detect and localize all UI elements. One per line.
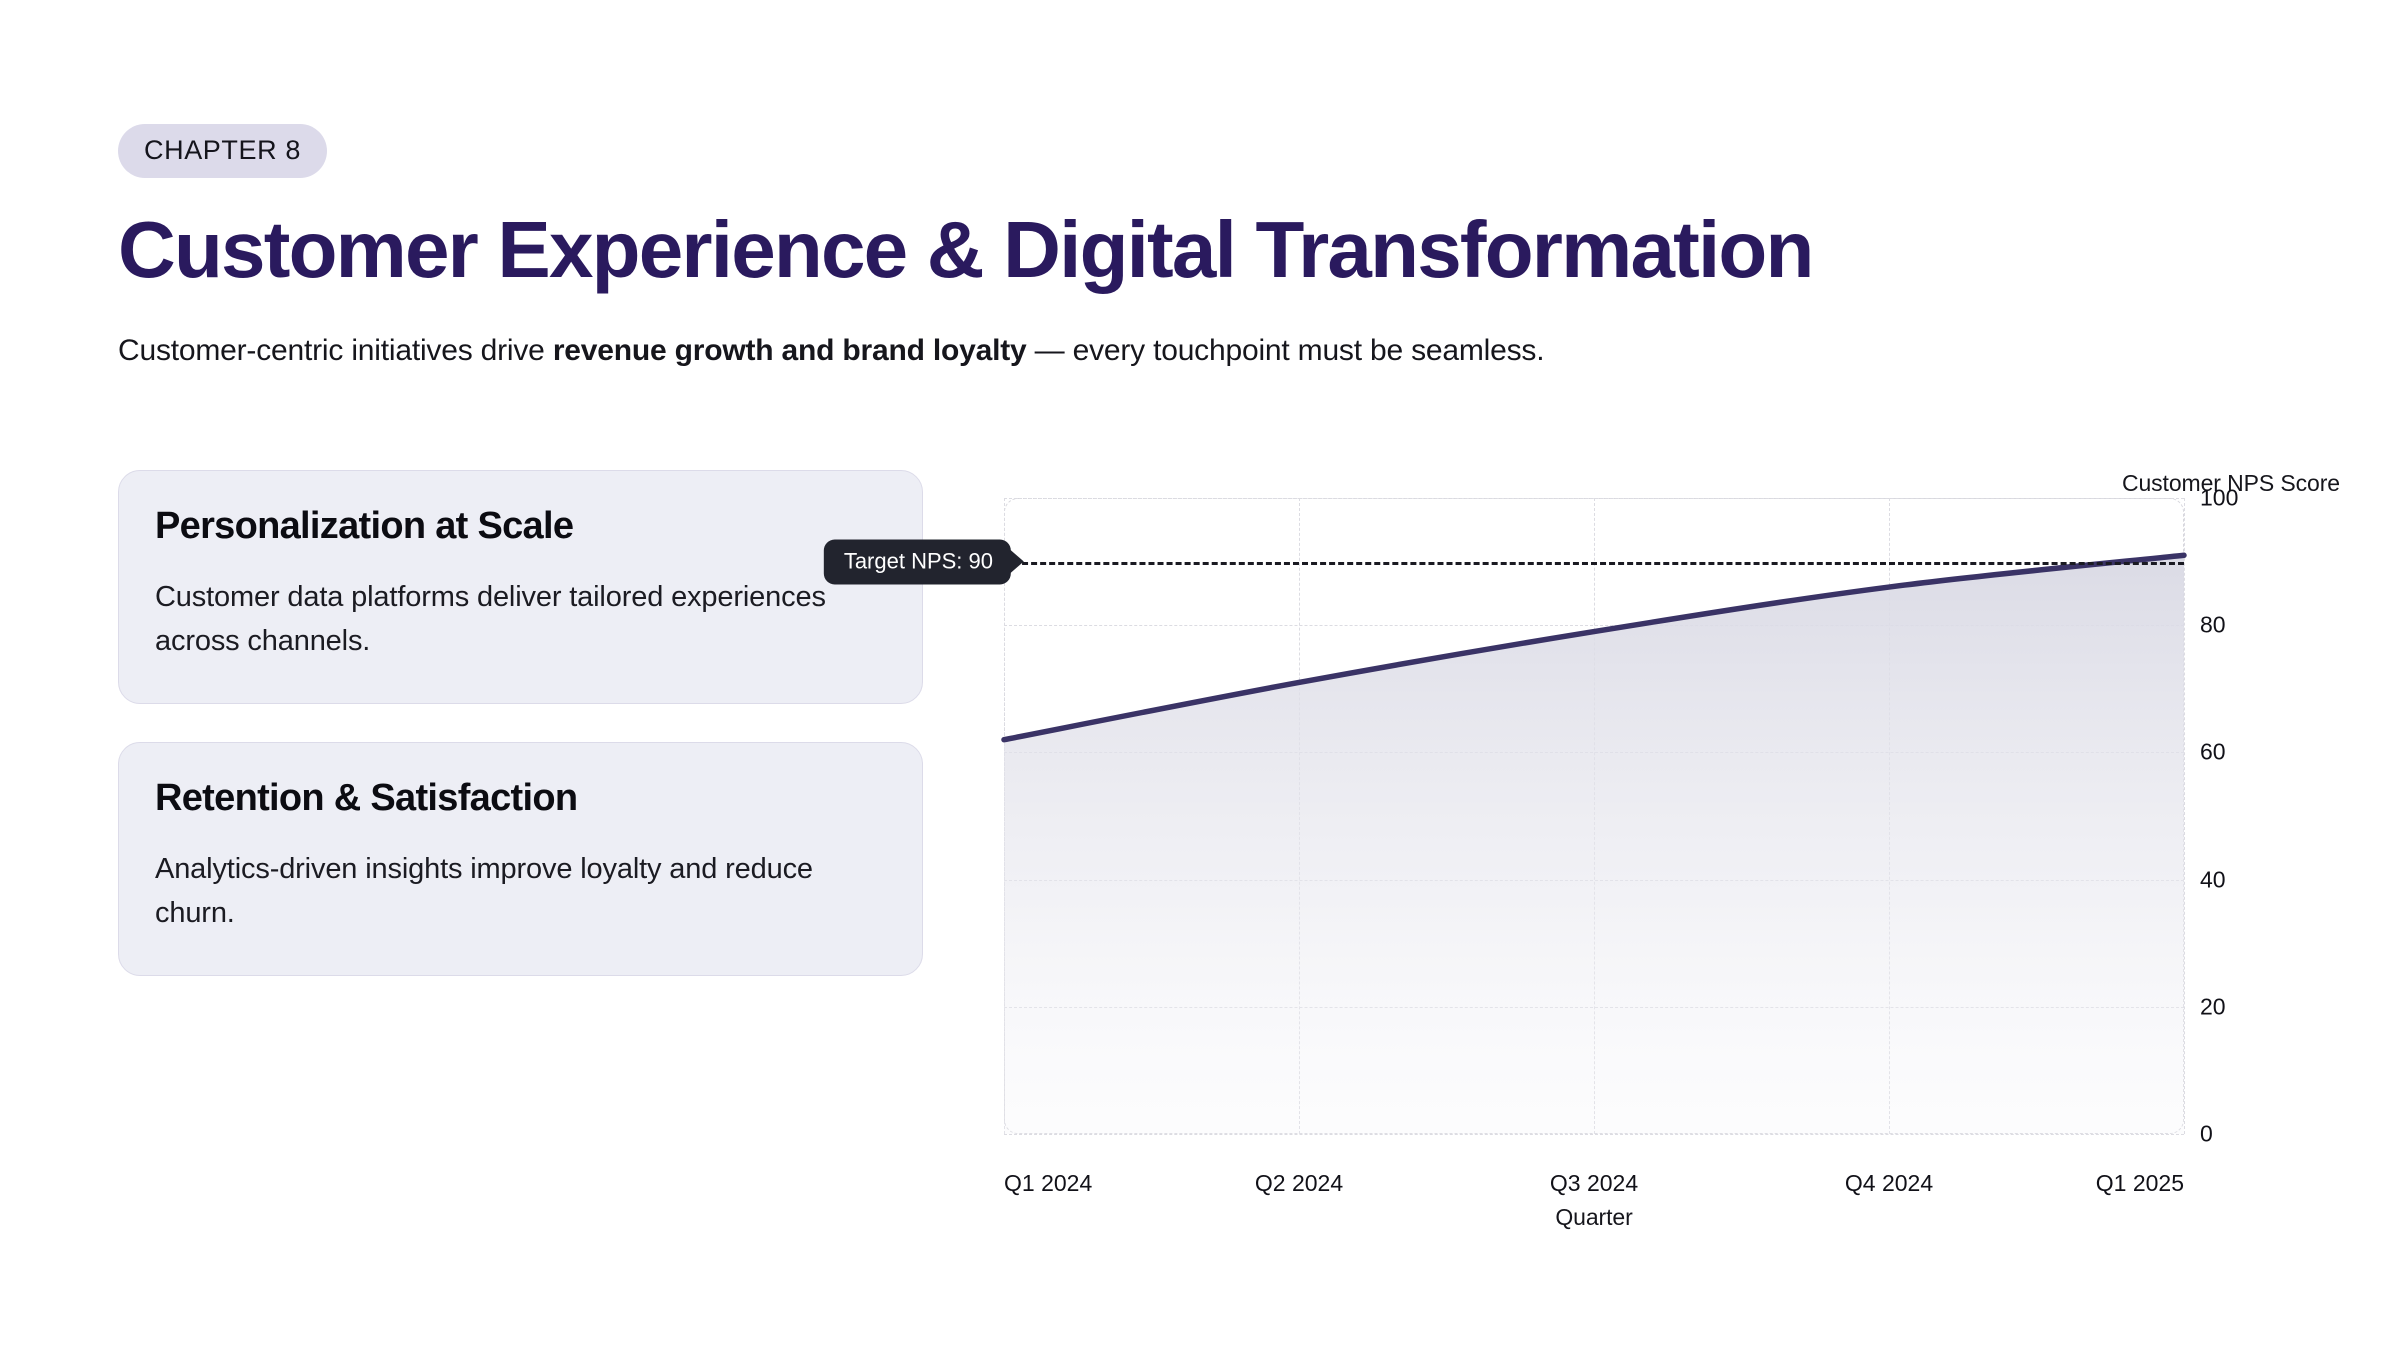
area-fill: [1004, 555, 2184, 1134]
x-axis-tick-label: Q3 2024: [1550, 1170, 1638, 1197]
x-axis-tick-label: Q4 2024: [1845, 1170, 1933, 1197]
y-axis-tick-label: 0: [2200, 1121, 2213, 1148]
feature-card: Retention & Satisfaction Analytics-drive…: [118, 742, 923, 976]
target-line: [1004, 562, 2184, 565]
y-axis-tick-label: 40: [2200, 866, 2226, 893]
y-axis-tick-label: 80: [2200, 612, 2226, 639]
y-axis-tick-label: 60: [2200, 739, 2226, 766]
chart-plot-area: Target NPS: 90 020406080100 Q1 2024Q2 20…: [1004, 498, 2184, 1134]
chapter-badge: CHAPTER 8: [118, 124, 327, 178]
slide: CHAPTER 8 Customer Experience & Digital …: [0, 0, 2400, 1350]
feature-card-title: Retention & Satisfaction: [155, 777, 886, 821]
series-svg: [1004, 498, 2184, 1134]
feature-card-body: Customer data platforms deliver tailored…: [155, 575, 886, 663]
feature-card-title: Personalization at Scale: [155, 505, 886, 549]
target-annotation-label: Target NPS: 90: [824, 539, 1011, 584]
header: CHAPTER 8 Customer Experience & Digital …: [118, 124, 2298, 372]
x-axis-tick-label: Q1 2024: [1004, 1170, 1092, 1197]
feature-card-list: Personalization at Scale Customer data p…: [118, 470, 923, 1014]
gridline-horizontal: [1004, 1134, 2184, 1135]
page-subtitle: Customer-centric initiatives drive reven…: [118, 330, 2298, 372]
x-axis-title: Quarter: [1555, 1204, 1632, 1231]
y-axis-tick-label: 20: [2200, 993, 2226, 1020]
page-title: Customer Experience & Digital Transforma…: [118, 208, 2298, 292]
feature-card-body: Analytics-driven insights improve loyalt…: [155, 847, 886, 935]
target-annotation: Target NPS: 90: [824, 539, 1024, 584]
x-axis-tick-label: Q1 2025: [2096, 1170, 2184, 1197]
x-axis-tick-label: Q2 2024: [1255, 1170, 1343, 1197]
nps-chart: Customer NPS Score Target NPS: 90: [960, 470, 2340, 1200]
gridline-vertical: [2184, 498, 2185, 1134]
y-axis-tick-label: 100: [2200, 485, 2238, 512]
subtitle-text-tail: — every touchpoint must be seamless.: [1027, 334, 1545, 367]
subtitle-text-emphasis: revenue growth and brand loyalty: [553, 334, 1027, 367]
feature-card: Personalization at Scale Customer data p…: [118, 470, 923, 704]
subtitle-text-lead: Customer-centric initiatives drive: [118, 334, 553, 367]
target-annotation-arrow-icon: [1009, 549, 1024, 575]
